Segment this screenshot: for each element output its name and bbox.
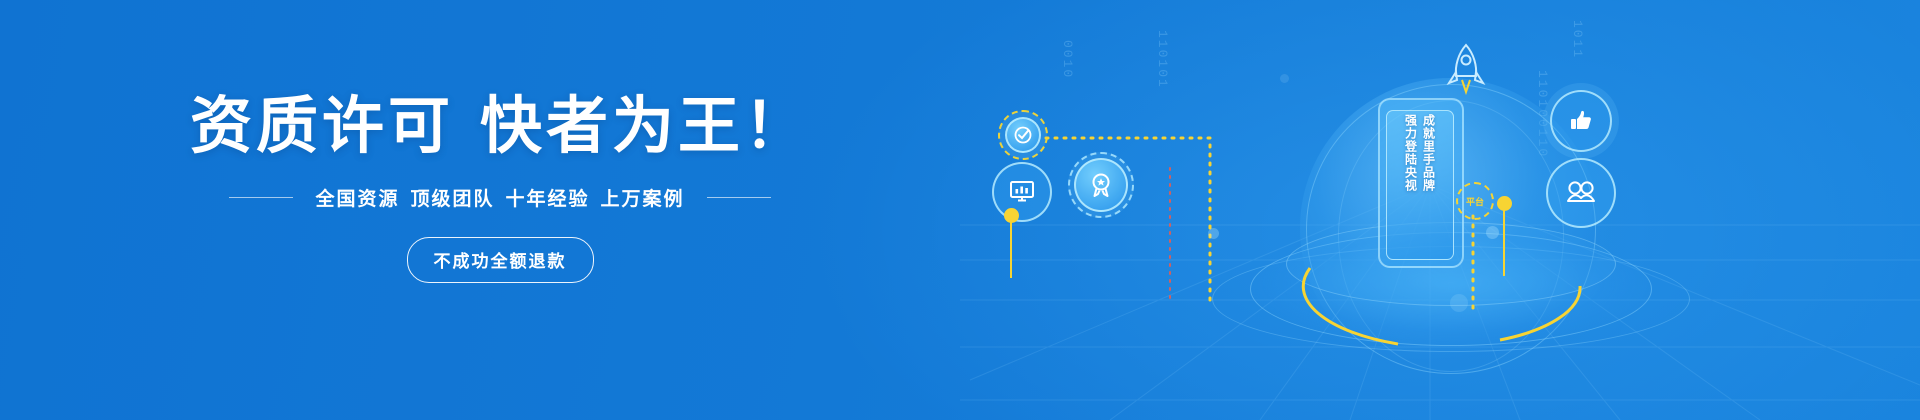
headline: 资质许可快者为王！ (0, 96, 1000, 158)
binary-text-2: 110101 (1155, 30, 1170, 89)
bubble-2 (1486, 226, 1499, 239)
handshake-icon[interactable] (1546, 158, 1616, 228)
bubble-3 (1450, 294, 1468, 312)
promo-banner: 资质许可快者为王！ 全国资源顶级团队十年经验上万案例 不成功全额退款 0010 … (0, 0, 1920, 420)
pin-stem-right (1503, 204, 1505, 276)
binary-text-1: 0010 (1060, 40, 1075, 79)
rocket-icon (1446, 42, 1486, 100)
bubble-1 (1208, 228, 1219, 239)
headline-part-1: 资质许可 (190, 92, 454, 161)
bubble-4 (1280, 74, 1289, 83)
dotted-connectors (1010, 128, 1490, 318)
headline-part-2: 快者为王！ (480, 92, 810, 161)
binary-text-3: 1011 (1570, 20, 1585, 59)
subtitle-row: 全国资源顶级团队十年经验上万案例 (0, 184, 1000, 211)
thumbs-up-icon[interactable] (1550, 90, 1612, 152)
subtitle-rule-right (707, 197, 771, 198)
cta-wrapper: 不成功全额退款 (0, 237, 1000, 283)
subtitle: 全国资源顶级团队十年经验上万案例 (315, 184, 684, 211)
pin-head-right (1497, 196, 1512, 211)
thumbs-up-glyph (1566, 106, 1596, 136)
subtitle-item-2: 十年经验 (506, 189, 590, 210)
pin-stem-left (1010, 216, 1012, 278)
subtitle-item-3: 上万案例 (601, 189, 685, 210)
subtitle-item-0: 全国资源 (315, 189, 399, 210)
subtitle-rule-left (229, 197, 293, 198)
handshake-glyph (1563, 175, 1599, 211)
illustration: 0010 110101 1011 110100110 成就里手品牌 强力登陆央视 (950, 0, 1920, 420)
banner-text-block: 资质许可快者为王！ 全国资源顶级团队十年经验上万案例 不成功全额退款 (0, 96, 1000, 283)
subtitle-item-1: 顶级团队 (410, 189, 494, 210)
refund-guarantee-button[interactable]: 不成功全额退款 (407, 237, 594, 283)
pin-head-left (1004, 208, 1019, 223)
